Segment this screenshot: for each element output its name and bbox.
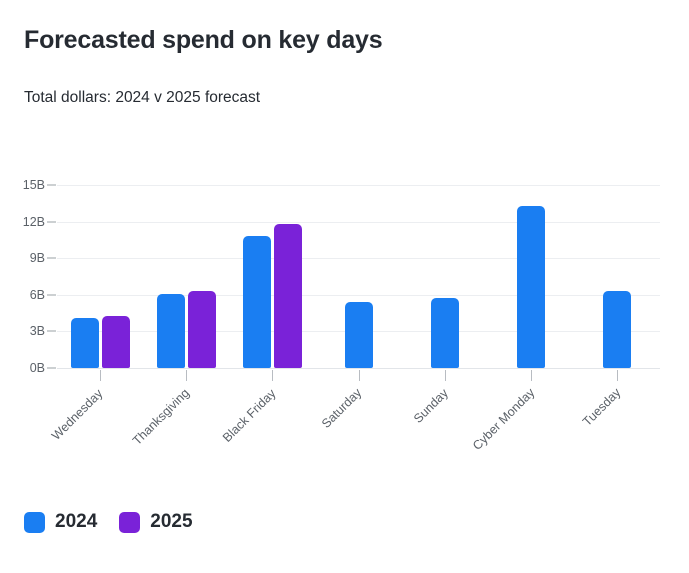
y-axis-tick-label: 15B: [5, 178, 45, 192]
y-axis-tick-mark: [47, 221, 56, 222]
bar-2025[interactable]: [274, 224, 302, 368]
bar-2024[interactable]: [345, 302, 373, 368]
x-axis-tick-label: Sunday: [411, 386, 451, 426]
x-axis-tick-mark: [531, 370, 532, 381]
bar-2024[interactable]: [157, 294, 185, 368]
chart-legend: 20242025: [24, 511, 193, 533]
x-axis-tick-label: Saturday: [319, 386, 364, 431]
x-axis-tick-label: Wednesday: [49, 386, 105, 442]
y-axis-tick-mark: [47, 331, 56, 332]
gridline-15b: [57, 185, 660, 186]
x-axis-tick-mark: [617, 370, 618, 381]
x-axis-tick-mark: [359, 370, 360, 381]
y-axis-tick-label: 0B: [5, 361, 45, 375]
y-axis-tick-mark: [47, 258, 56, 259]
bar-2024[interactable]: [603, 291, 631, 368]
x-axis-tick-mark: [100, 370, 101, 381]
gridline-0b: [57, 368, 660, 369]
legend-swatch-icon: [24, 512, 45, 533]
bar-2025[interactable]: [188, 291, 216, 368]
legend-label: 2025: [150, 511, 192, 533]
x-axis-tick-mark: [445, 370, 446, 381]
legend-item-2024[interactable]: 2024: [24, 511, 97, 533]
plot-area: [57, 185, 660, 368]
x-axis-tick-label: Black Friday: [220, 386, 279, 445]
bar-2024[interactable]: [517, 206, 545, 368]
x-axis-tick-mark: [272, 370, 273, 381]
chart-title: Forecasted spend on key days: [24, 26, 382, 55]
gridline-6b: [57, 295, 660, 296]
legend-swatch-icon: [119, 512, 140, 533]
y-axis-tick-mark: [47, 368, 56, 369]
y-axis-tick-label: 3B: [5, 324, 45, 338]
y-axis-tick-mark: [47, 185, 56, 186]
y-axis-tick-label: 12B: [5, 215, 45, 229]
x-axis-tick-label: Tuesday: [580, 386, 623, 429]
bar-2025[interactable]: [102, 316, 130, 368]
bar-2024[interactable]: [431, 298, 459, 368]
gridline-12b: [57, 222, 660, 223]
x-axis-tick-mark: [186, 370, 187, 381]
y-axis-tick-label: 9B: [5, 251, 45, 265]
y-axis-tick-label: 6B: [5, 288, 45, 302]
legend-item-2025[interactable]: 2025: [119, 511, 192, 533]
bar-2024[interactable]: [71, 318, 99, 368]
chart-subtitle: Total dollars: 2024 v 2025 forecast: [24, 89, 260, 107]
gridline-9b: [57, 258, 660, 259]
x-axis-tick-label: Cyber Monday: [470, 386, 537, 453]
bar-2024[interactable]: [243, 236, 271, 368]
x-axis-tick-label: Thanksgiving: [130, 386, 192, 448]
forecasted-spend-chart-card: Forecasted spend on key days Total dolla…: [0, 0, 689, 573]
legend-label: 2024: [55, 511, 97, 533]
y-axis-tick-mark: [47, 294, 56, 295]
